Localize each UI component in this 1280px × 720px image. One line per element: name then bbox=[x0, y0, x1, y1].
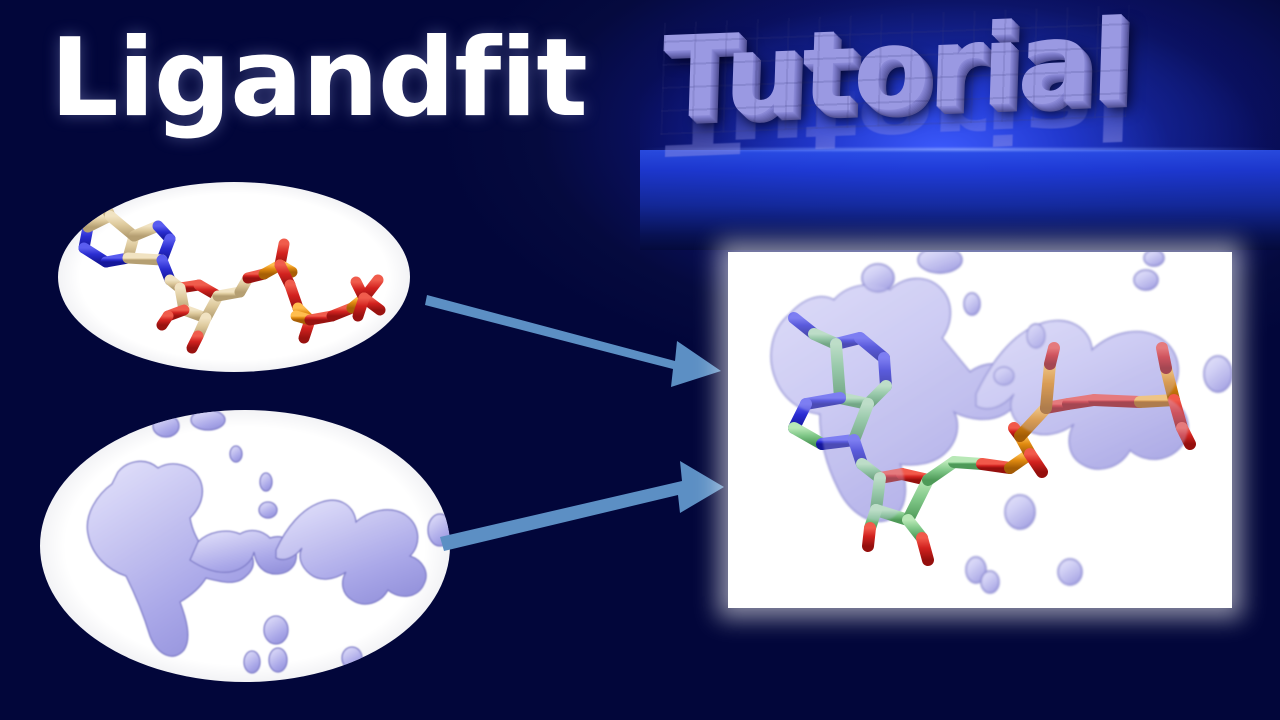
tutorial-title-graphic: Tutorial Tutorial bbox=[640, 0, 1280, 250]
fitted-ligand-in-density bbox=[728, 252, 1232, 608]
tutorial-text-3d: Tutorial bbox=[660, 5, 1129, 135]
arrow-ligand-to-result bbox=[425, 283, 725, 388]
slide-canvas: Tutorial Tutorial Ligandfit bbox=[0, 0, 1280, 720]
arrow-density-to-result bbox=[440, 455, 725, 555]
page-title: Ligandfit bbox=[50, 22, 587, 135]
fitted-result-panel bbox=[728, 252, 1232, 608]
ligand-structure-oval bbox=[58, 182, 410, 372]
electron-density-isosurface bbox=[40, 410, 450, 682]
ligand-stick-model bbox=[58, 182, 410, 372]
electron-density-oval bbox=[40, 410, 450, 682]
tutorial-reflective-floor bbox=[640, 150, 1280, 250]
